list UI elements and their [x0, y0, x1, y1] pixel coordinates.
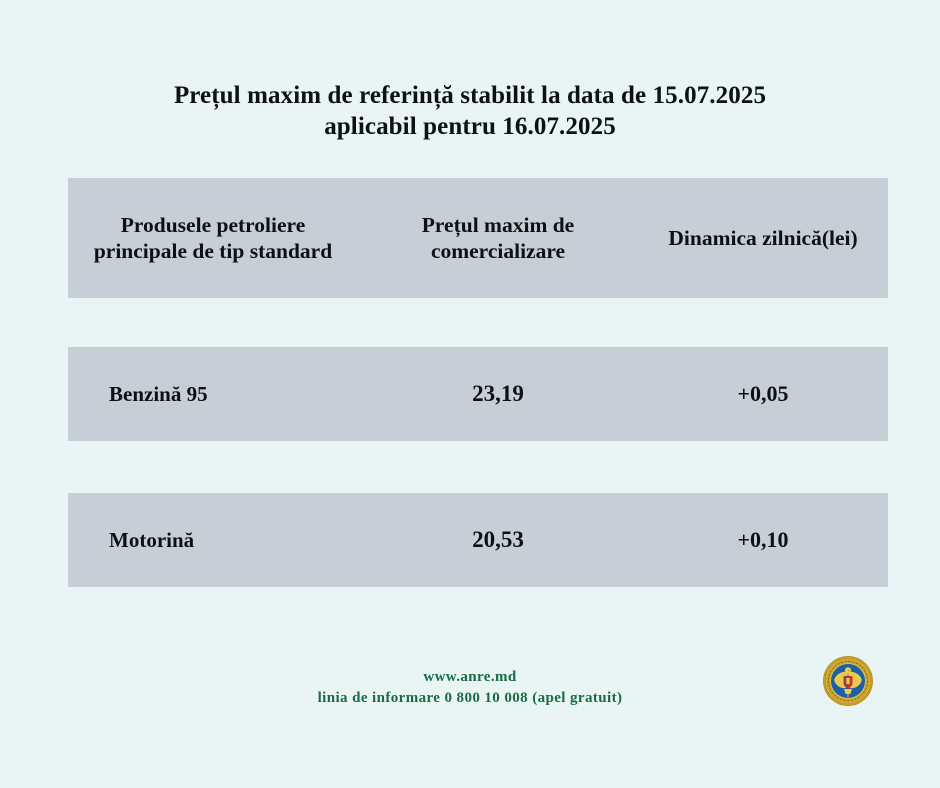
row-gap-2	[68, 441, 888, 493]
title-line-2: aplicabil pentru 16.07.2025	[0, 111, 940, 142]
cell-product-0: Benzină 95	[68, 347, 358, 441]
anre-moldova-emblem-icon	[822, 655, 874, 707]
header-cell-product: Produsele petroliere principale de tip s…	[68, 178, 358, 298]
page-title: Prețul maxim de referință stabilit la da…	[0, 80, 940, 142]
cell-product-1: Motorină	[68, 493, 358, 587]
footer-info-line: linia de informare 0 800 10 008 (apel gr…	[0, 688, 940, 709]
dynamic-value-1: +0,10	[737, 527, 788, 553]
cell-price-1: 20,53	[358, 493, 638, 587]
header-label-price: Prețul maxim de comercializare	[364, 212, 632, 264]
dynamic-value-0: +0,05	[737, 381, 788, 407]
header-label-product: Produsele petroliere principale de tip s…	[74, 212, 352, 264]
footer: www.anre.md linia de informare 0 800 10 …	[0, 667, 940, 709]
header-cell-price: Prețul maxim de comercializare	[358, 178, 638, 298]
header-cell-dynamic: Dinamica zilnică(lei)	[638, 178, 888, 298]
footer-website[interactable]: www.anre.md	[0, 667, 940, 688]
product-label-0: Benzină 95	[74, 382, 352, 407]
price-table: Produsele petroliere principale de tip s…	[68, 178, 888, 587]
table-header-row: Produsele petroliere principale de tip s…	[68, 178, 888, 298]
title-line-1: Prețul maxim de referință stabilit la da…	[0, 80, 940, 111]
price-value-0: 23,19	[472, 381, 524, 407]
cell-price-0: 23,19	[358, 347, 638, 441]
header-label-dynamic: Dinamica zilnică(lei)	[668, 225, 857, 251]
product-label-1: Motorină	[74, 528, 352, 553]
table-row: Motorină 20,53 +0,10	[68, 493, 888, 587]
price-value-1: 20,53	[472, 527, 524, 553]
row-gap-1	[68, 298, 888, 347]
cell-dynamic-1: +0,10	[638, 493, 888, 587]
table-row: Benzină 95 23,19 +0,05	[68, 347, 888, 441]
cell-dynamic-0: +0,05	[638, 347, 888, 441]
